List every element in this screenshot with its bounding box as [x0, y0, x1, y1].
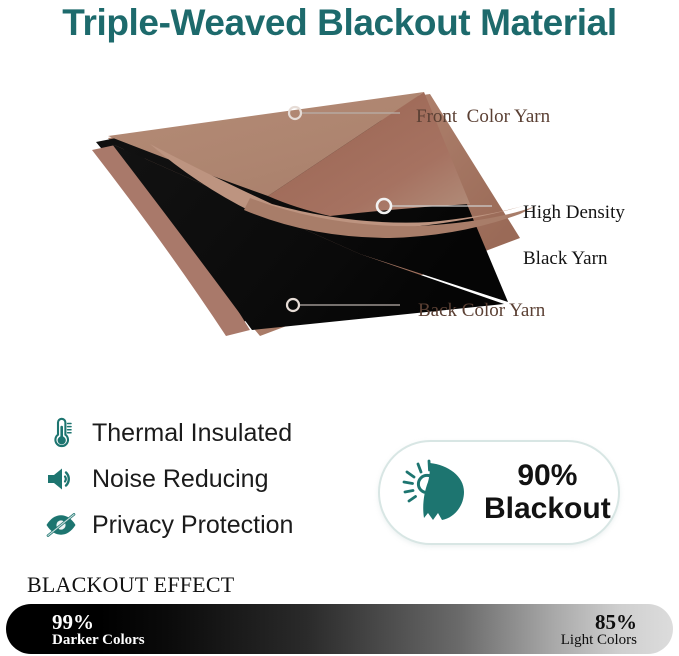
callout-black-line2: Black Yarn — [523, 248, 607, 269]
callout-label-back-color-yarn: Back Color Yarn — [418, 299, 545, 322]
light-colors-caption: Light Colors — [561, 633, 637, 649]
thermometer-icon — [44, 416, 78, 450]
page-title: Triple-Weaved Blackout Material — [0, 2, 679, 44]
feature-list: Thermal Insulated Noise Reducing Privacy… — [44, 410, 364, 548]
blackout-word: Blackout — [484, 493, 611, 525]
feature-item-noise-reducing: Noise Reducing — [44, 456, 364, 502]
eye-slash-icon — [44, 508, 78, 542]
darker-colors-caption: Darker Colors — [52, 633, 145, 649]
blackout-effect-left-value: 99% Darker Colors — [52, 611, 145, 649]
blackout-effect-heading: BLACKOUT EFFECT — [27, 572, 234, 598]
darker-colors-percent: 99% — [52, 611, 145, 633]
layered-fabric-illustration: Front Color Yarn High Density Black Yarn… — [0, 86, 679, 356]
speaker-icon — [44, 462, 78, 496]
feature-label-privacy-protection: Privacy Protection — [92, 511, 293, 540]
blackout-badge: 90% Blackout — [378, 440, 620, 545]
feature-label-thermal-insulated: Thermal Insulated — [92, 419, 292, 448]
blackout-percent: 90% — [484, 460, 611, 492]
blackout-effect-right-value: 85% Light Colors — [561, 611, 637, 649]
light-colors-percent: 85% — [561, 611, 637, 633]
feature-item-privacy-protection: Privacy Protection — [44, 502, 364, 548]
callout-black-line1: High Density — [523, 202, 625, 223]
blackout-badge-text: 90% Blackout — [484, 460, 611, 524]
feature-item-thermal-insulated: Thermal Insulated — [44, 410, 364, 456]
callout-label-front-color-yarn: Front Color Yarn — [416, 105, 550, 128]
callout-label-high-density-black-yarn: High Density Black Yarn — [504, 178, 625, 293]
feature-label-noise-reducing: Noise Reducing — [92, 465, 269, 494]
blackout-effect-gradient-bar: 99% Darker Colors 85% Light Colors — [6, 604, 673, 654]
sun-behind-curtain-icon — [400, 457, 476, 529]
